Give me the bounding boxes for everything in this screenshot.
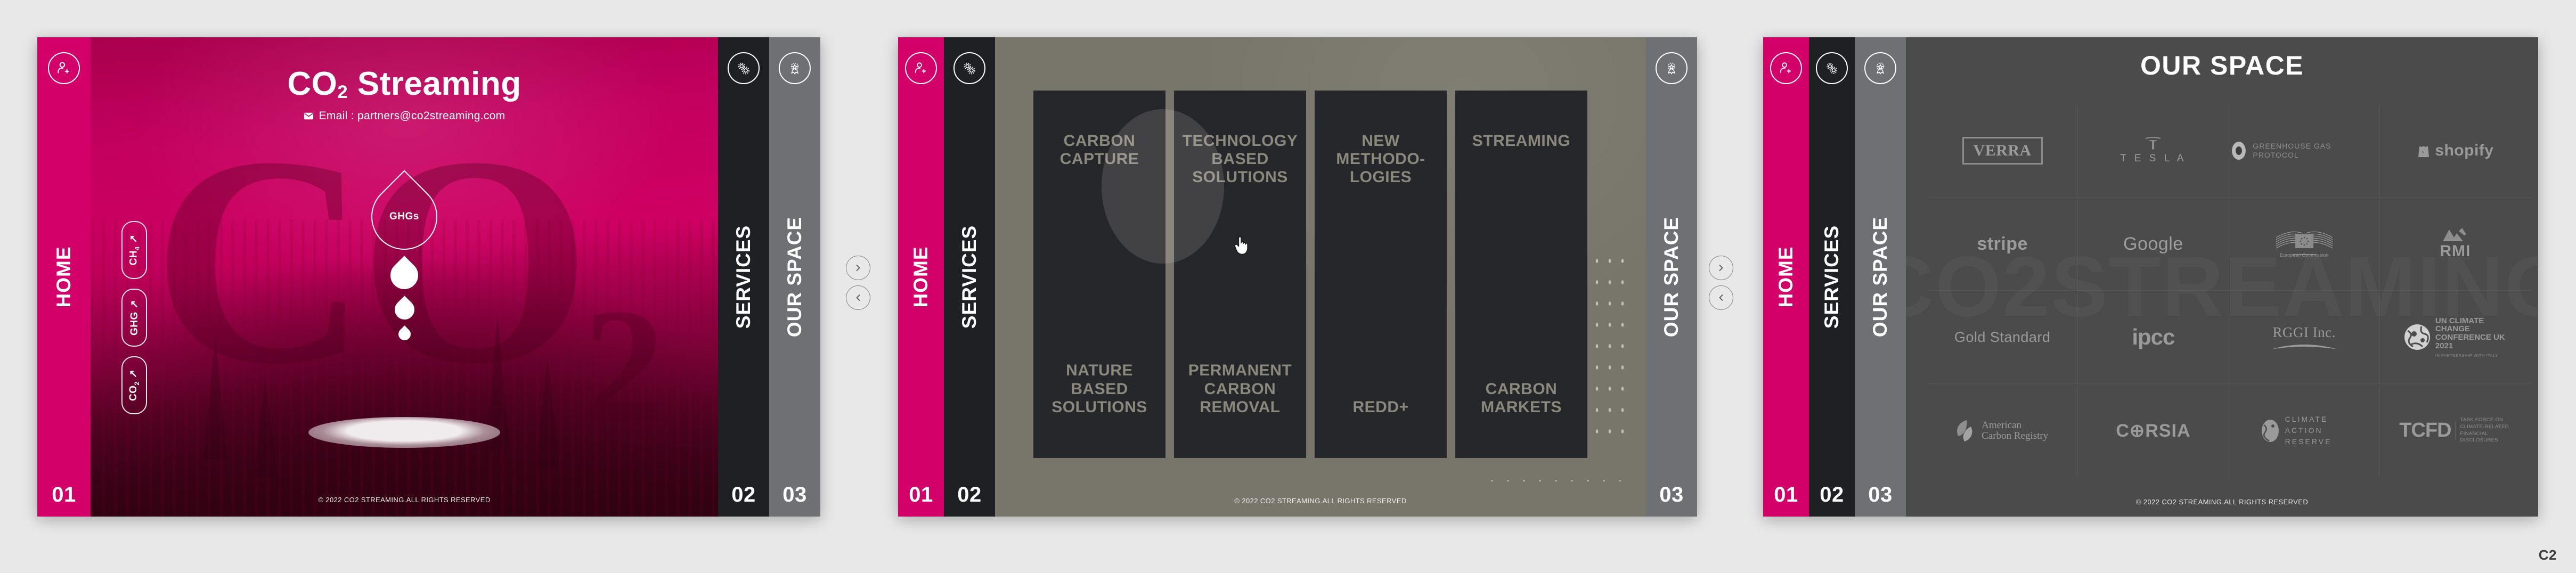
partner-logo-tesla[interactable]: T E S L A [2078, 104, 2229, 198]
cop26-globe-icon [2403, 323, 2431, 351]
slides-stage: HOME 01 CO2 CO2 Streaming Email : partne… [0, 0, 2576, 573]
service-column[interactable]: STREAMING CARBON MARKETS [1455, 91, 1587, 458]
award-badge-icon[interactable] [1656, 52, 1688, 84]
sidebar-item-services[interactable]: SERVICES 02 [944, 37, 995, 517]
gas-tag-ghg[interactable]: GHG ↗ [121, 289, 147, 347]
footer-copyright: © 2022 CO2 STREAMING.ALL RIGHTS RESERVED [1906, 498, 2538, 506]
dot-pattern-horizontal [1484, 477, 1628, 485]
european-commission-label: European Commission [2280, 252, 2328, 258]
rmi-mountain-icon [2441, 228, 2469, 242]
gas-tag-co2[interactable]: CO2 ↗ [121, 356, 147, 414]
droplet-small-1 [385, 256, 424, 295]
contact-email[interactable]: Email : partners@co2streaming.com [91, 110, 718, 122]
tcfd-label: TCFD [2399, 419, 2451, 442]
partner-logo-shopify[interactable]: s shopify [2380, 104, 2531, 198]
page-title-tail: Streaming [348, 66, 521, 102]
award-badge-icon[interactable] [779, 52, 811, 84]
ghg-protocol-mark-icon [2229, 140, 2248, 161]
acr-label: American Carbon Registry [1982, 420, 2051, 441]
partner-logo-rmi[interactable]: RMI [2380, 198, 2531, 291]
tcfd-sublabel: TASK FORCE ON CLIMATE-RELATED FINANCIAL … [2460, 417, 2512, 444]
google-label: Google [2123, 234, 2183, 255]
sidebar-item-services[interactable]: SERVICES 02 [1809, 37, 1855, 517]
panel-number-services: 02 [1820, 483, 1844, 507]
gas-tag-ghg-label: GHG [129, 312, 140, 335]
page-title: OUR SPACE [1906, 50, 2538, 81]
add-user-icon[interactable] [1770, 52, 1802, 84]
sidebar-item-home[interactable]: HOME 01 [898, 37, 944, 517]
partner-logo-grid: VERRA T E S L A [1927, 104, 2531, 477]
ghg-droplet-outline: GHGs [357, 170, 451, 263]
gas-tag-ch4-sub: 4 [133, 247, 141, 250]
prev-slide-button[interactable] [846, 285, 870, 310]
contact-email-text: Email : partners@co2streaming.com [319, 110, 506, 122]
service-column[interactable]: NEW METHODO- LOGIES REDD+ [1315, 91, 1447, 458]
car-label: CLIMATE ACTION RESERVE [2285, 414, 2349, 447]
svg-text:s: s [2422, 149, 2424, 155]
shopify-label: shopify [2435, 142, 2493, 160]
panel-number-services: 02 [731, 483, 756, 507]
corner-label: C2 [2539, 547, 2557, 563]
footer-copyright: © 2022 CO2 STREAMING.ALL RIGHTS RESERVED [995, 497, 1646, 505]
partner-logo-ipcc[interactable]: ipcc [2078, 291, 2229, 384]
sidebar-item-services-label: SERVICES [958, 225, 981, 329]
partner-logo-european-commission[interactable]: European Commission [2229, 198, 2380, 291]
sidebar-item-home-label: HOME [53, 247, 75, 308]
gears-icon[interactable] [953, 52, 985, 84]
sidebar-item-home-label: HOME [1775, 247, 1797, 308]
panel-our-space: HOME 01 SERVICES 02 OUR SPACE [1763, 37, 2538, 517]
tesla-label: T E S L A [2120, 153, 2186, 165]
award-badge-icon[interactable] [1864, 52, 1896, 84]
home-content: CO2 CO2 Streaming Email : partners@co2st… [91, 37, 718, 517]
corsia-label: C⊕RSIA [2116, 420, 2190, 441]
add-user-icon[interactable] [905, 52, 937, 84]
chevron-left-icon [854, 293, 862, 302]
panel-number-home: 01 [1774, 483, 1798, 507]
chevron-left-icon [1717, 293, 1725, 302]
sidebar-item-services-label: SERVICES [1821, 225, 1843, 329]
gas-tag-co2-label: CO [128, 386, 140, 402]
ipcc-label: ipcc [2132, 324, 2174, 350]
stripe-label: stripe [1977, 234, 2028, 255]
partner-logo-un-climate-change-conference[interactable]: UN CLIMATE CHANGE CONFERENCE UK 2021 IN … [2380, 291, 2531, 384]
sidebar-item-home-label: HOME [910, 247, 932, 308]
partner-logo-greenhouse-gas-protocol[interactable]: GREENHOUSE GAS PROTOCOL [2229, 104, 2380, 198]
ghg-droplet-graphic: GHGs [371, 184, 437, 340]
sidebar-item-our-space-label: OUR SPACE [1869, 217, 1892, 337]
sidebar-item-services[interactable]: SERVICES 02 [718, 37, 769, 517]
panel-number-our-space: 03 [1659, 483, 1684, 507]
tree-silhouette [203, 337, 227, 459]
car-globe-icon [2260, 419, 2281, 443]
dot-pattern-vertical [1591, 250, 1628, 437]
chevron-right-icon [854, 264, 862, 272]
service-top-label: NEW METHODO- LOGIES [1322, 132, 1439, 187]
partner-logo-verra[interactable]: VERRA [1927, 104, 2078, 198]
shopify-bag-icon: s [2417, 143, 2431, 159]
tree-silhouette [536, 357, 559, 469]
panel-services: HOME 01 SERVICES 02 CARBON CAPTURE NATUR… [898, 37, 1697, 517]
slide-nav-2 [1709, 256, 1733, 310]
gears-icon[interactable] [1816, 52, 1848, 84]
sidebar-item-services-label: SERVICES [732, 225, 755, 329]
sidebar-item-our-space[interactable]: OUR SPACE 03 [1646, 37, 1697, 517]
arrow-up-right-icon: ↗ [128, 370, 140, 378]
service-bottom-label: REDD+ [1322, 398, 1439, 416]
next-slide-button[interactable] [846, 256, 870, 280]
droplet-small-3 [396, 325, 413, 343]
service-bottom-label: CARBON MARKETS [1463, 380, 1580, 416]
verra-label: VERRA [1974, 142, 2032, 159]
service-top-label: STREAMING [1463, 132, 1580, 150]
service-top-label: CARBON CAPTURE [1041, 132, 1158, 168]
gas-tag-ch4[interactable]: CH4 ↗ [121, 221, 147, 279]
acr-leaf-icon [1954, 418, 1978, 444]
services-content: CARBON CAPTURE NATURE BASED SOLUTIONS TE… [995, 37, 1646, 517]
sidebar-item-our-space-label: OUR SPACE [1660, 217, 1683, 337]
service-top-label: TECHNOLOGY BASED SOLUTIONS [1181, 132, 1299, 187]
footer-copyright: © 2022 CO2 STREAMING.ALL RIGHTS RESERVED [91, 496, 718, 504]
service-column[interactable]: CARBON CAPTURE NATURE BASED SOLUTIONS [1033, 91, 1165, 458]
gears-icon[interactable] [728, 52, 760, 84]
sidebar-item-home[interactable]: HOME 01 [1763, 37, 1809, 517]
panel-number-home: 01 [909, 483, 933, 507]
arrow-up-right-icon: ↗ [128, 234, 140, 243]
page-title-main: CO [287, 66, 337, 102]
sidebar-item-home[interactable]: HOME 01 [37, 37, 91, 517]
arrow-up-right-icon: ↗ [129, 300, 140, 308]
partner-logo-google[interactable]: Google [2078, 198, 2229, 291]
partner-logo-tcfd[interactable]: TCFD TASK FORCE ON CLIMATE-RELATED FINAN… [2380, 384, 2531, 477]
prev-slide-button[interactable] [1709, 285, 1733, 310]
sidebar-item-our-space-label: OUR SPACE [784, 217, 806, 337]
panel-number-home: 01 [52, 483, 76, 507]
service-bottom-label: PERMANENT CARBON REMOVAL [1181, 362, 1299, 416]
service-bottom-label: NATURE BASED SOLUTIONS [1041, 362, 1158, 416]
panel-number-our-space: 03 [1868, 483, 1893, 507]
tesla-t-icon [2142, 137, 2164, 151]
services-column-grid: CARBON CAPTURE NATURE BASED SOLUTIONS TE… [1033, 91, 1587, 458]
partner-logo-climate-action-reserve[interactable]: CLIMATE ACTION RESERVE [2229, 384, 2380, 477]
rggi-label: RGGI Inc. [2272, 324, 2335, 341]
rggi-arc-icon [2270, 341, 2339, 350]
ghg-droplet-label: GHGs [389, 211, 419, 223]
panel-home: HOME 01 CO2 CO2 Streaming Email : partne… [37, 37, 820, 517]
sidebar-item-our-space[interactable]: OUR SPACE 03 [1855, 37, 1906, 517]
gas-tag-co2-sub: 2 [133, 381, 141, 385]
panel-number-our-space: 03 [782, 483, 807, 507]
partner-logo-rggi[interactable]: RGGI Inc. [2229, 291, 2380, 384]
gas-tag-list: CH4 ↗ GHG ↗ CO2 ↗ [121, 221, 147, 414]
sidebar-item-our-space[interactable]: OUR SPACE 03 [769, 37, 820, 517]
page-title: CO2 Streaming [91, 65, 718, 103]
mail-icon [304, 112, 314, 120]
partner-logo-gold-standard[interactable]: Gold Standard [1927, 291, 2078, 384]
cop26-sublabel: IN PARTNERSHIP WITH ITALY [2435, 353, 2507, 358]
gas-tag-ch4-label: CH [128, 250, 140, 265]
puddle-graphic [308, 417, 500, 448]
rmi-label: RMI [2440, 242, 2471, 260]
gold-standard-label: Gold Standard [1954, 329, 2051, 346]
our-space-content: CO2STREAMING OUR SPACE VERRA T E S L A [1906, 37, 2538, 517]
chevron-right-icon [1717, 264, 1725, 272]
slide-nav-1 [846, 256, 870, 310]
add-user-icon[interactable] [48, 52, 80, 84]
ghg-protocol-label: GREENHOUSE GAS PROTOCOL [2253, 142, 2379, 160]
partner-logo-stripe[interactable]: stripe [1927, 198, 2078, 291]
tree-silhouette [254, 377, 277, 478]
service-column[interactable]: TECHNOLOGY BASED SOLUTIONS PERMANENT CAR… [1174, 91, 1306, 458]
tcfd-divider [2456, 422, 2456, 440]
page-title-sub: 2 [337, 82, 348, 102]
droplet-small-2 [390, 296, 418, 323]
cop26-label: UN CLIMATE CHANGE CONFERENCE UK 2021 [2435, 317, 2507, 350]
next-slide-button[interactable] [1709, 256, 1733, 280]
partner-logo-corsia[interactable]: C⊕RSIA [2078, 384, 2229, 477]
panel-number-services: 02 [957, 483, 982, 507]
partner-logo-american-carbon-registry[interactable]: American Carbon Registry [1927, 384, 2078, 477]
